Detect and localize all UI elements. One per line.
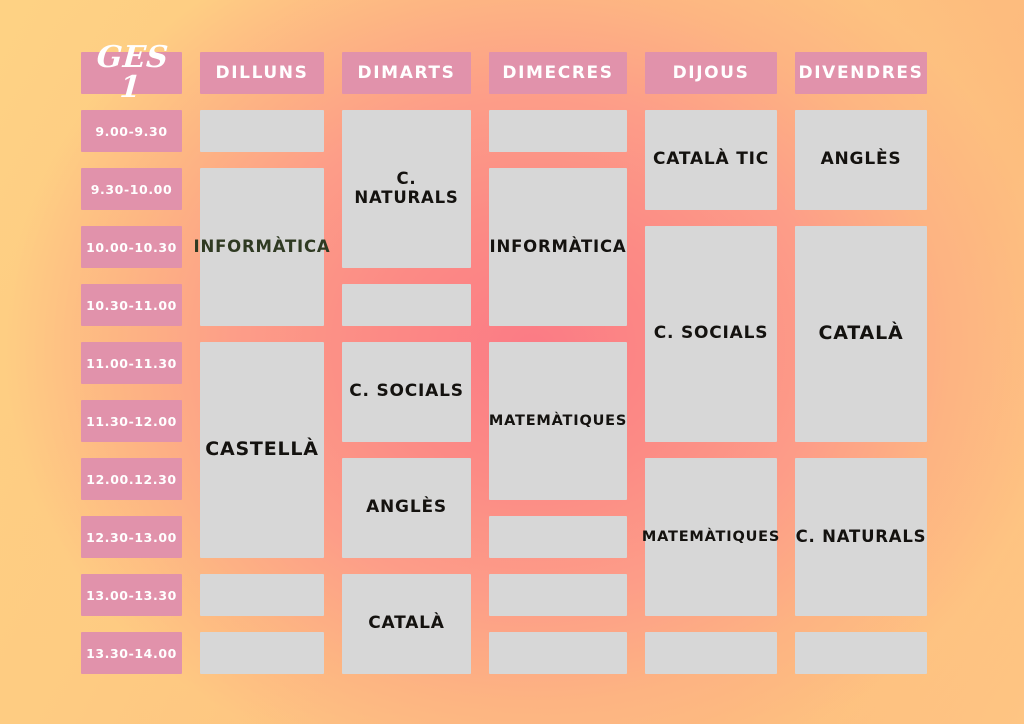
time-slot-1: 9.00-9.30 [72, 102, 191, 160]
time-slot-label: 11.00-11.30 [86, 356, 177, 371]
subject-label: C. SOCIALS [654, 324, 769, 344]
subject-label: MATEMÀTIQUES [642, 529, 780, 546]
slot-box: CATALÀ TIC [645, 110, 777, 210]
subject-dijous-catal-tic[interactable]: CATALÀ TIC [636, 102, 786, 218]
subject-label: CATALÀ TIC [653, 150, 769, 170]
day-header-dilluns[interactable]: DILLUNS [191, 44, 333, 102]
subject-dimarts-c-naturals[interactable]: C. NATURALS [333, 102, 480, 276]
subject-label: INFORMÀTICA [490, 238, 627, 257]
time-slot-8: 12.30-13.00 [72, 508, 191, 566]
empty-slot-dilluns-10[interactable] [191, 624, 333, 682]
subject-dijous-c-socials[interactable]: C. SOCIALS [636, 218, 786, 450]
day-header-box: DIVENDRES [795, 52, 927, 94]
day-header-label: DIJOUS [673, 63, 750, 83]
time-slot-label: 13.00-13.30 [86, 588, 177, 603]
subject-dimarts-catal[interactable]: CATALÀ [333, 566, 480, 682]
time-slot-4: 10.30-11.00 [72, 276, 191, 334]
time-slot-3: 10.00-10.30 [72, 218, 191, 276]
time-slot-box: 10.00-10.30 [81, 226, 182, 268]
time-slot-box: 12.30-13.00 [81, 516, 182, 558]
slot-box: INFORMÀTICA [489, 168, 627, 326]
time-slot-box: 10.30-11.00 [81, 284, 182, 326]
time-slot-box: 9.00-9.30 [81, 110, 182, 152]
slot-box: INFORMÀTICA [200, 168, 324, 326]
empty-slot-dilluns-1[interactable] [191, 102, 333, 160]
slot-box [489, 574, 627, 616]
empty-slot-dijous-10[interactable] [636, 624, 786, 682]
slot-box [200, 574, 324, 616]
day-header-label: DILLUNS [216, 63, 309, 83]
day-header-box: DIJOUS [645, 52, 777, 94]
page-title: GES 1 [79, 43, 184, 103]
subject-divendres-angl-s[interactable]: ANGLÈS [786, 102, 936, 218]
day-header-box: DIMARTS [342, 52, 471, 94]
slot-box: C. NATURALS [795, 458, 927, 616]
slot-box [489, 632, 627, 674]
time-slot-box: 11.30-12.00 [81, 400, 182, 442]
title-box: GES 1 [81, 52, 182, 94]
subject-dilluns-inform-tica[interactable]: INFORMÀTICA [191, 160, 333, 334]
time-slot-label: 9.00-9.30 [95, 124, 167, 139]
empty-slot-dimecres-10[interactable] [480, 624, 636, 682]
slot-box [200, 632, 324, 674]
time-slot-box: 11.00-11.30 [81, 342, 182, 384]
slot-box: CASTELLÀ [200, 342, 324, 558]
day-header-label: DIVENDRES [799, 63, 924, 83]
time-slot-box: 12.00.12.30 [81, 458, 182, 500]
empty-slot-dimarts-4[interactable] [333, 276, 480, 334]
time-slot-box: 13.30-14.00 [81, 632, 182, 674]
subject-dimecres-inform-tica[interactable]: INFORMÀTICA [480, 160, 636, 334]
time-slot-6: 11.30-12.00 [72, 392, 191, 450]
subject-label: C. SOCIALS [349, 382, 464, 402]
time-slot-9: 13.00-13.30 [72, 566, 191, 624]
slot-box: MATEMÀTIQUES [489, 342, 627, 500]
timetable-grid: GES 1DILLUNSDIMARTSDIMECRESDIJOUSDIVENDR… [72, 44, 952, 692]
subject-label: ANGLÈS [821, 150, 902, 170]
subject-dijous-matem-tiques[interactable]: MATEMÀTIQUES [636, 450, 786, 624]
subject-label: C. NATURALS [796, 528, 927, 547]
day-header-dijous[interactable]: DIJOUS [636, 44, 786, 102]
day-header-label: DIMARTS [358, 63, 456, 83]
time-slot-label: 12.30-13.00 [86, 530, 177, 545]
empty-slot-dilluns-9[interactable] [191, 566, 333, 624]
day-header-box: DIMECRES [489, 52, 627, 94]
time-slot-box: 13.00-13.30 [81, 574, 182, 616]
slot-box [200, 110, 324, 152]
slot-box: CATALÀ [795, 226, 927, 442]
time-slot-label: 10.00-10.30 [86, 240, 177, 255]
subject-divendres-c-naturals[interactable]: C. NATURALS [786, 450, 936, 624]
time-slot-label: 13.30-14.00 [86, 646, 177, 661]
slot-box: ANGLÈS [342, 458, 471, 558]
day-header-divendres[interactable]: DIVENDRES [786, 44, 936, 102]
day-header-dimarts[interactable]: DIMARTS [333, 44, 480, 102]
slot-box [342, 284, 471, 326]
time-slot-10: 13.30-14.00 [72, 624, 191, 682]
slot-box: MATEMÀTIQUES [645, 458, 777, 616]
slot-box [489, 516, 627, 558]
time-slot-5: 11.00-11.30 [72, 334, 191, 392]
time-slot-label: 12.00.12.30 [86, 472, 176, 487]
time-slot-2: 9.30-10.00 [72, 160, 191, 218]
subject-dimecres-matem-tiques[interactable]: MATEMÀTIQUES [480, 334, 636, 508]
slot-box: C. SOCIALS [342, 342, 471, 442]
day-header-box: DILLUNS [200, 52, 324, 94]
time-slot-label: 10.30-11.00 [86, 298, 177, 313]
slot-box: C. SOCIALS [645, 226, 777, 442]
subject-label: C. NATURALS [342, 170, 471, 208]
slot-box: C. NATURALS [342, 110, 471, 268]
slot-box: ANGLÈS [795, 110, 927, 210]
subject-label: CASTELLÀ [205, 439, 319, 461]
time-slot-label: 11.30-12.00 [86, 414, 177, 429]
subject-dimarts-c-socials[interactable]: C. SOCIALS [333, 334, 480, 450]
slot-box [645, 632, 777, 674]
slot-box [795, 632, 927, 674]
slot-box [489, 110, 627, 152]
subject-label: CATALÀ [368, 614, 445, 634]
empty-slot-divendres-10[interactable] [786, 624, 936, 682]
day-header-dimecres[interactable]: DIMECRES [480, 44, 636, 102]
empty-slot-dimecres-8[interactable] [480, 508, 636, 566]
subject-label: CATALÀ [819, 323, 904, 345]
time-slot-7: 12.00.12.30 [72, 450, 191, 508]
time-slot-label: 9.30-10.00 [91, 182, 173, 197]
timetable-title-cell: GES 1 [72, 44, 191, 102]
subject-divendres-catal[interactable]: CATALÀ [786, 218, 936, 450]
subject-label: MATEMÀTIQUES [489, 413, 627, 430]
empty-slot-dimecres-1[interactable] [480, 102, 636, 160]
subject-dimarts-angl-s[interactable]: ANGLÈS [333, 450, 480, 566]
subject-dilluns-castell[interactable]: CASTELLÀ [191, 334, 333, 566]
empty-slot-dimecres-9[interactable] [480, 566, 636, 624]
subject-label: INFORMÀTICA [194, 238, 331, 257]
time-slot-box: 9.30-10.00 [81, 168, 182, 210]
timetable-page: GES 1DILLUNSDIMARTSDIMECRESDIJOUSDIVENDR… [0, 0, 1024, 724]
subject-label: ANGLÈS [366, 498, 447, 518]
day-header-label: DIMECRES [502, 63, 613, 83]
slot-box: CATALÀ [342, 574, 471, 674]
